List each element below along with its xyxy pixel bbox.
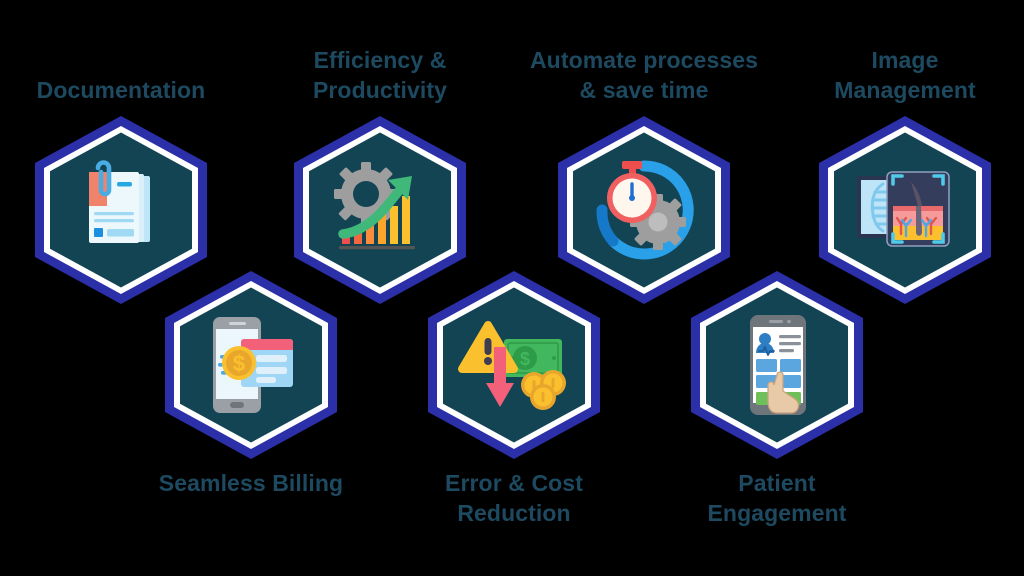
label-automate-processes: Automate processes & save time	[514, 46, 774, 106]
svg-text:$: $	[233, 351, 245, 376]
mobile-payment-invoice-icon: $	[199, 313, 303, 417]
infographic-canvas: Documentation	[0, 0, 1024, 576]
label-image-management: Image Management	[775, 46, 1024, 106]
label-patient-engagement: Patient Engagement	[647, 469, 907, 529]
medical-imaging-scan-icon	[853, 158, 957, 262]
svg-text:$: $	[520, 349, 530, 369]
label-efficiency-productivity: Efficiency & Productivity	[250, 46, 510, 106]
hexagon-badge-error-cost[interactable]: $	[428, 271, 600, 459]
label-error-cost-reduction: Error & Cost Reduction	[384, 469, 644, 529]
warning-money-down-arrow-icon: $	[462, 313, 566, 417]
label-documentation: Documentation	[0, 76, 251, 106]
hexagon-badge-patient-engagement[interactable]	[691, 271, 863, 459]
document-stack-paperclip-icon	[69, 158, 173, 262]
label-seamless-billing: Seamless Billing	[121, 469, 381, 499]
gear-growth-chart-icon	[328, 158, 432, 262]
mobile-patient-app-touch-icon	[725, 313, 829, 417]
hexagon-badge-seamless-billing[interactable]: $	[165, 271, 337, 459]
stopwatch-gear-icon	[592, 158, 696, 262]
